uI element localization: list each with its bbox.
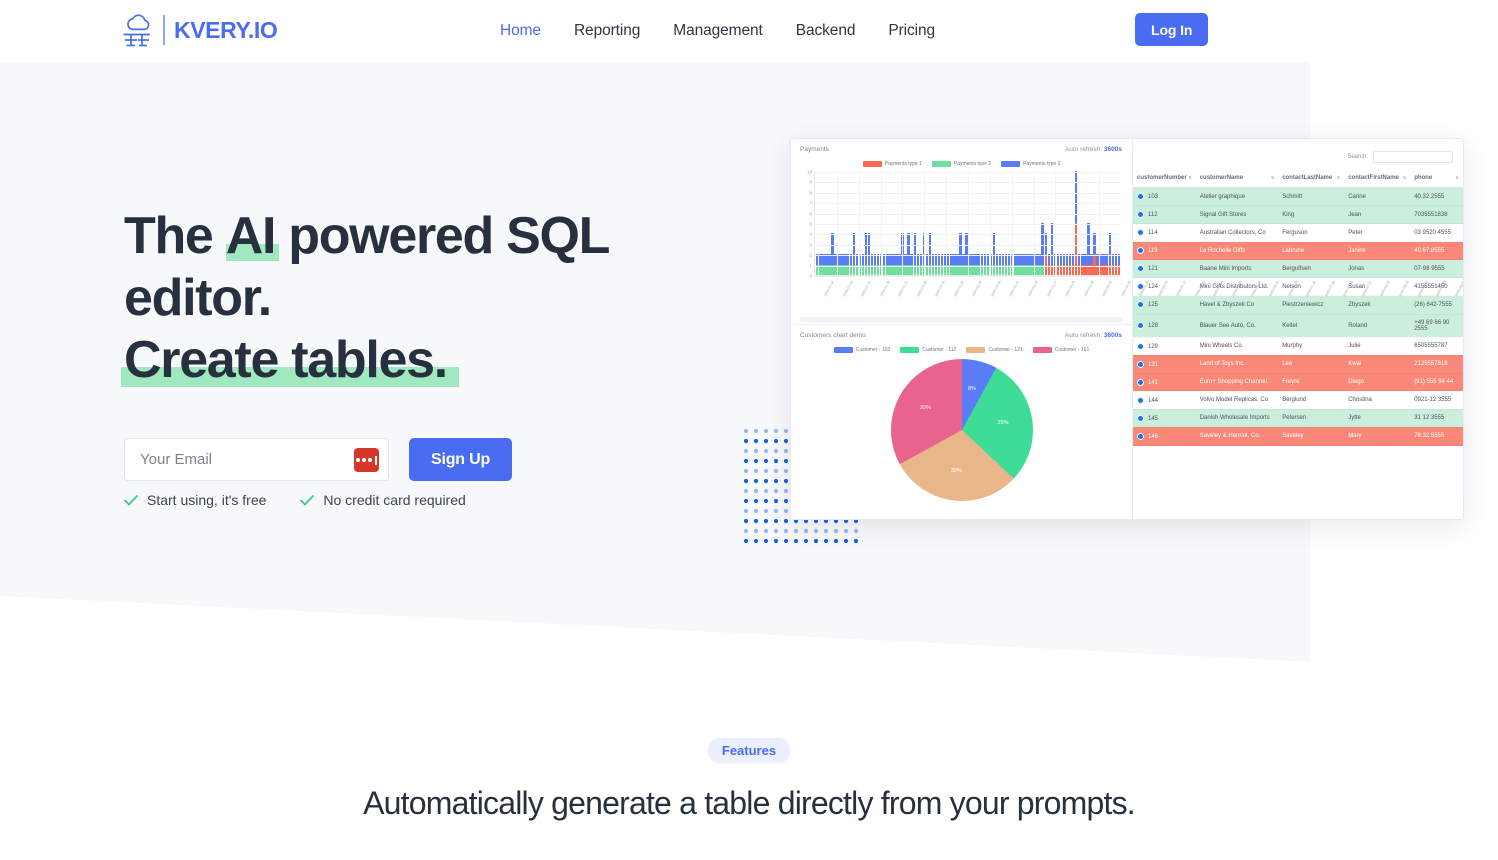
nav-item-backend[interactable]: Backend: [796, 22, 856, 40]
perk-no-credit-card: No credit card required: [300, 492, 465, 508]
table-cell: Volvo Model Replicas, Co: [1196, 391, 1279, 409]
customers-table-panel: Search: customerNumber⇅customerName⇅cont…: [1133, 139, 1463, 519]
headline-line-2: editor.: [124, 269, 271, 327]
table-cell: Saveley & Henriot, Co.: [1196, 427, 1279, 445]
features-pill: Features: [708, 738, 790, 763]
row-select-icon[interactable]: [1137, 265, 1144, 272]
site-header: KVERY.IO Home Reporting Management Backe…: [0, 0, 1498, 62]
table-cell: +49 69 66 90 2555: [1410, 314, 1463, 337]
table-cell: Mini Wheels Co.: [1196, 337, 1279, 355]
y-tick-label: 3: [809, 242, 812, 247]
table-cell: Lee: [1278, 355, 1344, 373]
table-cell: Australian Collectors, Co: [1196, 224, 1279, 242]
logo-divider: [163, 15, 165, 45]
table-cell: 31 12 3555: [1410, 409, 1463, 427]
table-cell: Bergulfsen: [1278, 260, 1344, 278]
table-row[interactable]: 129Mini Wheels Co.MurphyJulie6505555787: [1133, 337, 1463, 355]
table-column-header[interactable]: phone⇅: [1410, 171, 1463, 188]
table-search: Search:: [1133, 139, 1463, 171]
table-cell: Janine: [1344, 242, 1410, 260]
row-select-icon[interactable]: [1137, 247, 1144, 254]
page-title: The AI powered SQL editor. Create tables…: [124, 205, 764, 391]
legend-label: Payments type 1: [885, 161, 922, 167]
cloud-table-icon: [120, 11, 154, 49]
table-row[interactable]: 119La Rochelle GiftsLabruneJanine40.67.8…: [1133, 242, 1463, 260]
table-cell: Jonas: [1344, 260, 1410, 278]
dashboard-charts-column: Payments Auto refresh: 3600s Payments ty…: [791, 139, 1133, 519]
table-cell: 114: [1133, 224, 1196, 242]
table-cell: Peter: [1344, 224, 1410, 242]
y-tick-label: 5: [809, 222, 812, 227]
table-cell: 112: [1133, 206, 1196, 224]
table-cell: 40.32.2555: [1410, 188, 1463, 206]
table-column-header[interactable]: customerNumber⇅: [1133, 171, 1196, 188]
table-cell: (91) 555 94 44: [1410, 373, 1463, 391]
customers-refresh-value: 3600s: [1104, 332, 1122, 339]
table-cell: 144: [1133, 391, 1196, 409]
table-cell: Euro+ Shopping Channel: [1196, 373, 1279, 391]
legend-label: Payments type 3: [1023, 161, 1060, 167]
table-cell: 145: [1133, 409, 1196, 427]
table-cell: Schmitt: [1278, 188, 1344, 206]
table-cell: Berglund: [1278, 391, 1344, 409]
table-cell: Freyre: [1278, 373, 1344, 391]
payments-refresh-value: 3600s: [1104, 146, 1122, 153]
legend-label: Customer - 121: [988, 347, 1022, 353]
sort-icon[interactable]: ⇅: [1188, 175, 1191, 180]
row-select-icon[interactable]: [1137, 379, 1144, 386]
headline-part-1: The: [124, 207, 226, 265]
legend-item[interactable]: Customer - 121: [966, 347, 1022, 353]
table-cell: Keitel: [1278, 314, 1344, 337]
row-select-icon[interactable]: [1137, 415, 1144, 422]
lastpass-icon[interactable]: [354, 448, 379, 472]
table-cell: 141: [1133, 373, 1196, 391]
table-cell: Petersen: [1278, 409, 1344, 427]
payments-x-axis-labels: 2003-01-162003-01-192003-01-242003-01-29…: [814, 278, 1121, 312]
row-select-icon[interactable]: [1137, 211, 1144, 218]
table-cell: Roland: [1344, 314, 1410, 337]
headline-part-2: powered SQL: [275, 207, 609, 265]
legend-label: Customer - 103: [856, 347, 890, 353]
logo[interactable]: KVERY.IO: [120, 11, 277, 49]
table-row[interactable]: 114Australian Collectors, CoFergusonPete…: [1133, 224, 1463, 242]
table-cell: Jean: [1344, 206, 1410, 224]
table-cell: Saveley: [1278, 427, 1344, 445]
table-row[interactable]: 121Baane Mini ImportsBergulfsenJonas07-9…: [1133, 260, 1463, 278]
hero-perks: Start using, it's free No credit card re…: [124, 492, 466, 508]
row-select-icon[interactable]: [1137, 193, 1144, 200]
perk-free: Start using, it's free: [124, 492, 266, 508]
customers-auto-refresh: Auto refresh: 3600s: [1065, 332, 1122, 339]
table-cell: 78.32.5555: [1410, 427, 1463, 445]
customers-chart-panel: Customers chart demo Auto refresh: 3600s…: [791, 325, 1132, 519]
check-icon: [124, 495, 138, 506]
pie-slice-label: 8%: [968, 386, 976, 392]
table-cell: 07-98 9555: [1410, 260, 1463, 278]
payments-chart-legend: Payments type 1Payments type 2Payments t…: [800, 161, 1123, 167]
table-cell: 2125557818: [1410, 355, 1463, 373]
table-cell: Jytte: [1344, 409, 1410, 427]
table-cell: 129: [1133, 337, 1196, 355]
customers-pie-wrap: 8%29%30%33%: [800, 359, 1123, 501]
row-select-icon[interactable]: [1137, 343, 1144, 350]
table-search-label: Search:: [1347, 154, 1368, 160]
y-tick-label: 10: [807, 170, 812, 175]
payments-y-axis: 012345678910: [800, 172, 813, 276]
legend-item[interactable]: Payments type 3: [1001, 161, 1060, 167]
y-tick-label: 4: [809, 232, 812, 237]
nav-item-home[interactable]: Home: [500, 22, 541, 40]
table-row[interactable]: 144Volvo Model Replicas, CoBerglundChris…: [1133, 391, 1463, 409]
table-row[interactable]: 145Danish Wholesale ImportsPetersenJytte…: [1133, 409, 1463, 427]
table-cell: 128: [1133, 314, 1196, 337]
main-navigation: Home Reporting Management Backend Pricin…: [500, 0, 935, 62]
payments-chart-panel: Payments Auto refresh: 3600s Payments ty…: [791, 139, 1132, 325]
legend-item[interactable]: Customer - 103: [834, 347, 890, 353]
legend-swatch: [834, 347, 853, 353]
perk-label: Start using, it's free: [147, 492, 266, 508]
table-cell: Diego: [1344, 373, 1410, 391]
email-input[interactable]: [140, 451, 350, 468]
legend-swatch: [863, 161, 882, 167]
legend-swatch: [932, 161, 951, 167]
table-cell: Murphy: [1278, 337, 1344, 355]
table-row[interactable]: 103Atelier graphiqueSchmittCarine40.32.2…: [1133, 188, 1463, 206]
table-cell: Kwai: [1344, 355, 1410, 373]
sort-icon[interactable]: ⇅: [1271, 175, 1274, 180]
table-column-header[interactable]: contactFirstName⇅: [1344, 171, 1410, 188]
table-cell: Ferguson: [1278, 224, 1344, 242]
table-cell: Labrune: [1278, 242, 1344, 260]
login-button[interactable]: Log In: [1135, 13, 1208, 46]
legend-label: Payments type 2: [954, 161, 991, 167]
sort-icon[interactable]: ⇅: [1456, 175, 1459, 180]
legend-item[interactable]: Payments type 2: [932, 161, 991, 167]
table-header-row: customerNumber⇅customerName⇅contactLastN…: [1133, 171, 1463, 188]
customers-pie-chart: 8%29%30%33%: [891, 359, 1033, 501]
table-cell: Danish Wholesale Imports: [1196, 409, 1279, 427]
sort-icon[interactable]: ⇅: [1337, 175, 1340, 180]
legend-swatch: [900, 347, 919, 353]
table-cell: 7035551838: [1410, 206, 1463, 224]
legend-item[interactable]: Payments type 1: [863, 161, 922, 167]
y-tick-label: 7: [809, 201, 812, 206]
row-select-icon[interactable]: [1137, 229, 1144, 236]
pie-slice-label: 29%: [997, 420, 1008, 426]
chart-horizontal-scrollbar[interactable]: [800, 317, 1123, 322]
perk-label: No credit card required: [323, 492, 465, 508]
table-cell: 103: [1133, 188, 1196, 206]
table-cell: Blauer See Auto, Co.: [1196, 314, 1279, 337]
table-cell: 121: [1133, 260, 1196, 278]
legend-item[interactable]: Customer - 112: [900, 347, 956, 353]
features-headline: Automatically generate a table directly …: [0, 785, 1498, 822]
headline-highlight-create-tables: Create tables.: [124, 329, 447, 391]
legend-label: Customer - 161: [1055, 347, 1089, 353]
y-tick-label: 2: [809, 253, 812, 258]
pie-slice-label: 30%: [951, 468, 962, 474]
table-cell: 03 9520 4555: [1410, 224, 1463, 242]
table-cell: 131: [1133, 355, 1196, 373]
table-cell: 146: [1133, 427, 1196, 445]
table-cell: Atelier graphique: [1196, 188, 1279, 206]
payments-chart-plot: 012345678910 2003-01-162003-01-192003-01…: [800, 172, 1123, 294]
signup-form: Sign Up: [124, 438, 512, 481]
nav-item-management[interactable]: Management: [673, 22, 762, 40]
table-column-header[interactable]: customerName⇅: [1196, 171, 1279, 188]
y-tick-label: 8: [809, 190, 812, 195]
legend-swatch: [1033, 347, 1052, 353]
table-cell: 6505555787: [1410, 337, 1463, 355]
legend-swatch: [1001, 161, 1020, 167]
page-root: KVERY.IO Home Reporting Management Backe…: [0, 0, 1498, 860]
table-column-header[interactable]: contactLastName⇅: [1278, 171, 1344, 188]
table-cell: 119: [1133, 242, 1196, 260]
table-cell: Christina: [1344, 391, 1410, 409]
sort-icon[interactable]: ⇅: [1403, 175, 1406, 180]
table-cell: Mary: [1344, 427, 1410, 445]
y-tick-label: 1: [809, 263, 812, 268]
dashboard-preview: Payments Auto refresh: 3600s Payments ty…: [790, 138, 1464, 520]
table-cell: Carine: [1344, 188, 1410, 206]
table-cell: Land of Toys Inc.: [1196, 355, 1279, 373]
table-row[interactable]: 146Saveley & Henriot, Co.SaveleyMary78.3…: [1133, 427, 1463, 445]
headline-highlight-ai: AI: [226, 205, 275, 267]
y-tick-label: 6: [809, 211, 812, 216]
nav-item-pricing[interactable]: Pricing: [888, 22, 935, 40]
legend-label: Customer - 112: [922, 347, 956, 353]
legend-swatch: [966, 347, 985, 353]
check-icon: [300, 495, 314, 506]
table-search-input[interactable]: [1373, 151, 1453, 163]
y-tick-label: 9: [809, 180, 812, 185]
table-cell: King: [1278, 206, 1344, 224]
table-cell: 0921-12 3555: [1410, 391, 1463, 409]
pie-slice-label: 33%: [920, 405, 931, 411]
y-tick-label: 0: [809, 274, 812, 279]
table-row[interactable]: 141Euro+ Shopping ChannelFreyreDiego(91)…: [1133, 373, 1463, 391]
table-cell: Signal Gift Stores: [1196, 206, 1279, 224]
table-cell: Baane Mini Imports: [1196, 260, 1279, 278]
features-section: Features Automatically generate a table …: [0, 738, 1498, 822]
customers-chart-legend: Customer - 103Customer - 112Customer - 1…: [800, 347, 1123, 353]
hero-copy: The AI powered SQL editor. Create tables…: [124, 205, 764, 391]
logo-text: KVERY.IO: [174, 17, 277, 44]
table-cell: Julie: [1344, 337, 1410, 355]
row-select-icon[interactable]: [1137, 397, 1144, 404]
payments-auto-refresh: Auto refresh: 3600s: [1065, 146, 1122, 153]
table-cell: 40.67.8555: [1410, 242, 1463, 260]
table-row[interactable]: 131Land of Toys Inc.LeeKwai2125557818: [1133, 355, 1463, 373]
email-field-wrapper: [124, 438, 389, 481]
row-select-icon[interactable]: [1137, 433, 1144, 440]
payments-plot-area: [814, 172, 1121, 276]
legend-item[interactable]: Customer - 161: [1033, 347, 1089, 353]
row-select-icon[interactable]: [1137, 361, 1144, 368]
signup-button[interactable]: Sign Up: [409, 438, 512, 481]
row-select-icon[interactable]: [1137, 322, 1144, 329]
table-cell: La Rochelle Gifts: [1196, 242, 1279, 260]
table-row[interactable]: 112Signal Gift StoresKingJean7035551838: [1133, 206, 1463, 224]
nav-item-reporting[interactable]: Reporting: [574, 22, 640, 40]
table-row[interactable]: 128Blauer See Auto, Co.KeitelRoland+49 6…: [1133, 314, 1463, 337]
